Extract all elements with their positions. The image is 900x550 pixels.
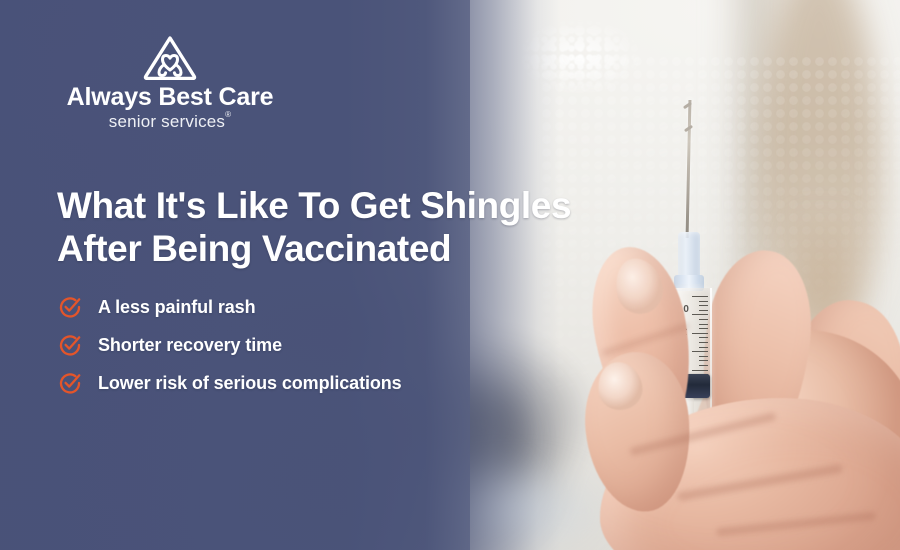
headline-line-1: What It's Like To Get Shingles: [57, 185, 527, 228]
headline-line-2: After Being Vaccinated: [57, 228, 527, 271]
brand-logo[interactable]: Always Best Care senior services®: [50, 34, 290, 133]
benefit-item: Shorter recovery time: [58, 326, 498, 364]
brand-tagline: senior services®: [50, 112, 290, 132]
brand-name: Always Best Care: [50, 84, 290, 110]
benefit-label: A less painful rash: [98, 297, 255, 318]
check-circle-icon: [58, 333, 82, 357]
registered-mark: ®: [225, 110, 231, 119]
benefit-item: Lower risk of serious complications: [58, 364, 498, 402]
check-circle-icon: [58, 295, 82, 319]
benefit-item: A less painful rash: [58, 288, 498, 326]
check-circle-icon: [58, 371, 82, 395]
benefits-list: A less painful rashShorter recovery time…: [58, 288, 498, 402]
benefit-label: Lower risk of serious complications: [98, 373, 402, 394]
promo-banner: 0.5 1 1.5 Alw: [0, 0, 900, 550]
abc-triangle-heart-logo-icon: [141, 34, 199, 80]
page-title: What It's Like To Get Shingles After Bei…: [57, 185, 527, 271]
brand-tagline-text: senior services: [109, 112, 225, 131]
banner-content: Always Best Care senior services® What I…: [0, 0, 900, 550]
benefit-label: Shorter recovery time: [98, 335, 282, 356]
